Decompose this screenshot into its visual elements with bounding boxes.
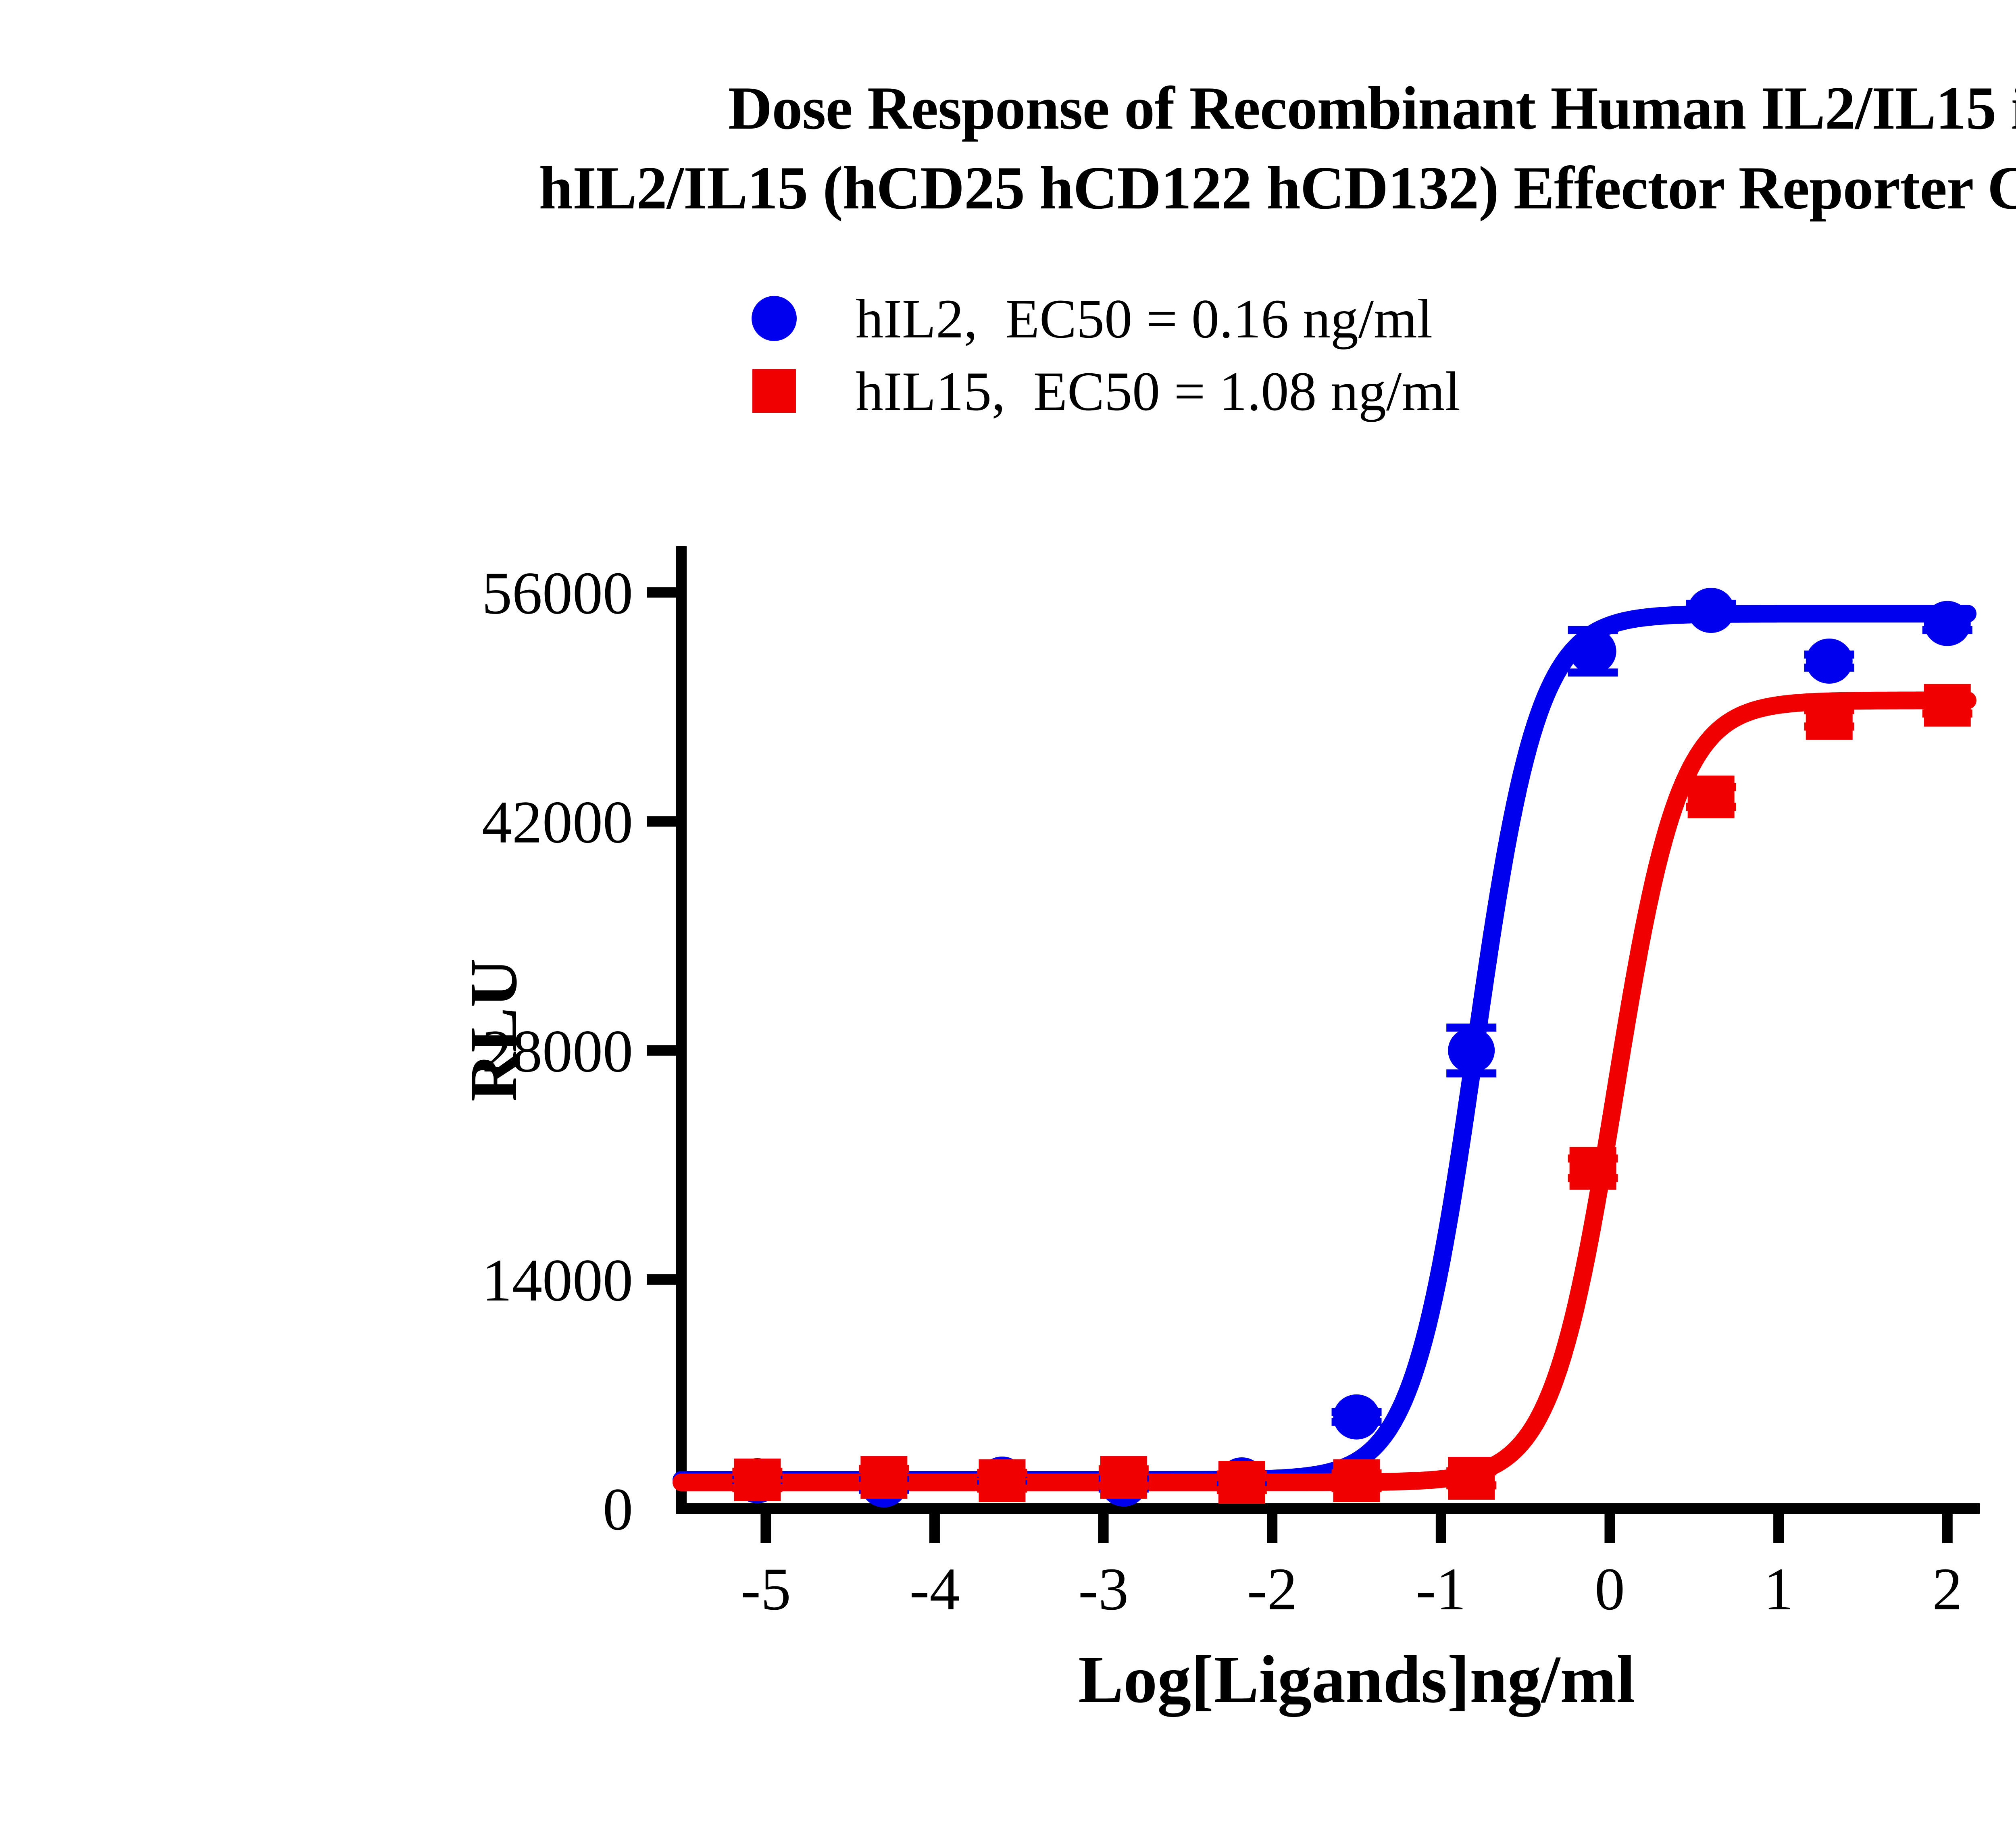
- data-point-square: [1570, 1147, 1616, 1190]
- fit-curve-hil15: [681, 700, 1968, 1482]
- y-tick-label: 0: [603, 1476, 633, 1543]
- data-point-circle: [1448, 1028, 1495, 1073]
- data-point-circle: [1570, 629, 1616, 674]
- data-point-square: [1924, 684, 1971, 726]
- y-tick-label: 56000: [482, 560, 633, 626]
- data-point-square: [734, 1459, 781, 1501]
- data-point-square: [1100, 1456, 1147, 1499]
- data-point-circle: [1688, 588, 1735, 633]
- y-tick-label: 42000: [482, 789, 633, 856]
- fit-curve-hil2: [681, 614, 1968, 1480]
- data-point-square: [1448, 1457, 1495, 1500]
- plot-area: 014000280004200056000-5-4-3-2-1012Log[Li…: [0, 0, 2016, 1823]
- fit-curves: [681, 614, 1968, 1482]
- data-point-circle: [1806, 639, 1853, 684]
- x-tick-label: -1: [1416, 1556, 1466, 1623]
- data-point-square: [1806, 697, 1853, 740]
- series-hil15: [732, 684, 1972, 1504]
- x-tick-label: -3: [1078, 1556, 1129, 1623]
- y-tick-label: 14000: [482, 1247, 633, 1314]
- x-tick-label: -4: [909, 1556, 960, 1623]
- data-point-square: [860, 1456, 907, 1499]
- x-tick-label: 0: [1595, 1556, 1625, 1623]
- data-point-square: [979, 1459, 1025, 1502]
- data-point-circle: [1333, 1394, 1380, 1440]
- y-axis-title-group: RLU: [456, 959, 531, 1102]
- x-tick-label: -2: [1247, 1556, 1297, 1623]
- data-point-square: [1333, 1459, 1380, 1502]
- data-point-square: [1688, 776, 1735, 818]
- data-point-circle: [1924, 601, 1971, 646]
- series-hil2: [732, 588, 1972, 1507]
- x-tick-label: 1: [1764, 1556, 1794, 1623]
- data-point-square: [1218, 1461, 1265, 1504]
- data-points: [732, 588, 1972, 1507]
- axes: [647, 546, 1980, 1543]
- x-axis-title: Log[Ligands]ng/ml: [1078, 1642, 1635, 1717]
- figure-root: Dose Response of Recombinant Human IL2/I…: [0, 0, 2016, 1823]
- x-tick-label: 2: [1932, 1556, 1962, 1623]
- x-tick-label: -5: [741, 1556, 791, 1623]
- y-axis-title: RLU: [456, 959, 531, 1102]
